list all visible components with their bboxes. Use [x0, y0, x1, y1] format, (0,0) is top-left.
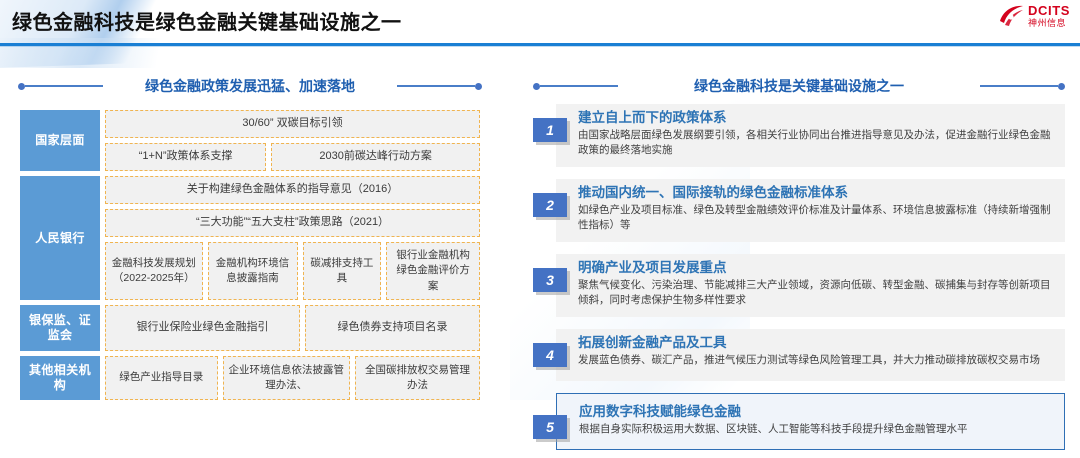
item-number-badge: 4 [533, 343, 567, 367]
policy-cell[interactable]: 银行业金融机构绿色金融评价方案 [386, 242, 480, 300]
item-panel: 拓展创新金融产品及工具 发展蓝色债券、碳汇产品，推进气候压力测试等绿色风险管理工… [556, 329, 1065, 381]
right-rail-start [533, 83, 618, 90]
list-item[interactable]: 3 明确产业及项目发展重点 聚焦气候变化、污染治理、节能减排三大产业领域，资源向… [533, 254, 1065, 317]
list-item[interactable]: 1 建立自上而下的政策体系 由国家战略层面绿色发展纲要引领，各相关行业协同出台推… [533, 104, 1065, 167]
item-body: 发展蓝色债券、碳汇产品，推进气候压力测试等绿色风险管理工具，并大力推动碳排放碳权… [578, 353, 1055, 369]
row-body: 30/60” 双碳目标引领 “1+N”政策体系支撑 2030前碳达峰行动方案 [105, 110, 480, 171]
item-number-badge: 3 [533, 268, 567, 292]
rail-dot-icon [1058, 83, 1065, 90]
policy-cell[interactable]: 30/60” 双碳目标引领 [105, 110, 480, 138]
policy-cell[interactable]: 企业环境信息依法披露管理办法、 [223, 356, 351, 400]
policy-cell[interactable]: “1+N”政策体系支撑 [105, 143, 266, 171]
rail-line-icon [980, 85, 1058, 87]
item-panel: 推动国内统一、国际接轨的绿色金融标准体系 如绿色产业及项目标准、绿色及转型金融绩… [556, 179, 1065, 242]
swoosh-logo-icon [998, 4, 1024, 28]
cell-group: 金融科技发展规划（2022-2025年） 金融机构环境信息披露指南 碳减排支持工… [105, 242, 480, 300]
list-item-highlighted[interactable]: 5 应用数字科技赋能绿色金融 根据自身实际积极运用大数据、区块链、人工智能等科技… [533, 393, 1065, 450]
policy-cell[interactable]: 关于构建绿色金融体系的指导意见（2016） [105, 176, 480, 204]
list-item[interactable]: 4 拓展创新金融产品及工具 发展蓝色债券、碳汇产品，推进气候压力测试等绿色风险管… [533, 329, 1065, 381]
brand-name: DCITS [1028, 4, 1070, 17]
row-label-cbirc-csrc: 银保监、证监会 [20, 305, 100, 351]
right-section-title: 绿色金融科技是关键基础设施之一 [618, 76, 980, 96]
brand-logo-text: DCITS 神州信息 [1028, 4, 1070, 28]
policy-cell[interactable]: 2030前碳达峰行动方案 [271, 143, 480, 171]
item-heading: 推动国内统一、国际接轨的绿色金融标准体系 [578, 184, 1055, 202]
cell-group: 30/60” 双碳目标引领 [105, 110, 480, 138]
rail-dot-icon [18, 83, 25, 90]
rail-dot-icon [475, 83, 482, 90]
row-label-other-agencies: 其他相关机构 [20, 356, 100, 400]
policy-cell[interactable]: “三大功能”“五大支柱”政策思路（2021） [105, 209, 480, 237]
policy-cell[interactable]: 绿色产业指导目录 [105, 356, 218, 400]
row-body: 银行业保险业绿色金融指引 绿色债券支持项目名录 [105, 305, 480, 351]
table-row: 国家层面 30/60” 双碳目标引领 “1+N”政策体系支撑 2030前碳达峰行… [20, 110, 480, 171]
rail-line-icon [540, 85, 618, 87]
table-row: 其他相关机构 绿色产业指导目录 企业环境信息依法披露管理办法、 全国碳排放权交易… [20, 356, 480, 400]
policy-cell[interactable]: 金融机构环境信息披露指南 [208, 242, 298, 300]
brand-logo: DCITS 神州信息 [998, 4, 1070, 28]
left-rail-start [18, 83, 103, 90]
item-body: 由国家战略层面绿色发展纲要引领，各相关行业协同出台推进指导意见及办法，促进金融行… [578, 128, 1055, 160]
cell-group: 银行业保险业绿色金融指引 绿色债券支持项目名录 [105, 305, 480, 351]
row-label-pboc: 人民银行 [20, 176, 100, 300]
rail-line-icon [397, 85, 475, 87]
policy-cell[interactable]: 金融科技发展规划（2022-2025年） [105, 242, 203, 300]
row-body: 绿色产业指导目录 企业环境信息依法披露管理办法、 全国碳排放权交易管理办法 [105, 356, 480, 400]
policy-cell[interactable]: 全国碳排放权交易管理办法 [355, 356, 480, 400]
item-number-badge: 2 [533, 193, 567, 217]
key-infrastructure-list: 1 建立自上而下的政策体系 由国家战略层面绿色发展纲要引领，各相关行业协同出台推… [533, 104, 1065, 450]
row-label-national: 国家层面 [20, 110, 100, 171]
policy-cell[interactable]: 绿色债券支持项目名录 [305, 305, 480, 351]
table-row: 银保监、证监会 银行业保险业绿色金融指引 绿色债券支持项目名录 [20, 305, 480, 351]
policy-matrix-table: 国家层面 30/60” 双碳目标引领 “1+N”政策体系支撑 2030前碳达峰行… [20, 110, 480, 400]
item-heading: 明确产业及项目发展重点 [578, 259, 1055, 277]
item-number-badge: 5 [533, 415, 567, 439]
rail-dot-icon [533, 83, 540, 90]
item-panel: 应用数字科技赋能绿色金融 根据自身实际积极运用大数据、区块链、人工智能等科技手段… [556, 393, 1065, 450]
policy-cell[interactable]: 碳减排支持工具 [303, 242, 382, 300]
item-heading: 应用数字科技赋能绿色金融 [579, 403, 1054, 421]
cell-group: “1+N”政策体系支撑 2030前碳达峰行动方案 [105, 143, 480, 171]
item-heading: 建立自上而下的政策体系 [578, 109, 1055, 127]
left-rail-end [397, 83, 482, 90]
item-panel: 建立自上而下的政策体系 由国家战略层面绿色发展纲要引领，各相关行业协同出台推进指… [556, 104, 1065, 167]
cell-group: 绿色产业指导目录 企业环境信息依法披露管理办法、 全国碳排放权交易管理办法 [105, 356, 480, 400]
policy-cell[interactable]: 银行业保险业绿色金融指引 [105, 305, 300, 351]
slide-canvas: 绿色金融科技是绿色金融关键基础设施之一 DCITS 神州信息 绿色金融政策发展迅… [0, 0, 1080, 458]
right-rail-end [980, 83, 1065, 90]
brand-name-cn: 神州信息 [1028, 19, 1070, 28]
item-body: 根据自身实际积极运用大数据、区块链、人工智能等科技手段提升绿色金融管理水平 [579, 422, 1054, 438]
title-divider-soft [0, 46, 1080, 47]
right-section-header: 绿色金融科技是关键基础设施之一 [533, 76, 1065, 96]
title-bar: 绿色金融科技是绿色金融关键基础设施之一 [0, 0, 1080, 47]
cell-group: “三大功能”“五大支柱”政策思路（2021） [105, 209, 480, 237]
item-heading: 拓展创新金融产品及工具 [578, 334, 1055, 352]
left-section-title: 绿色金融政策发展迅猛、加速落地 [103, 76, 397, 96]
list-item[interactable]: 2 推动国内统一、国际接轨的绿色金融标准体系 如绿色产业及项目标准、绿色及转型金… [533, 179, 1065, 242]
row-body: 关于构建绿色金融体系的指导意见（2016） “三大功能”“五大支柱”政策思路（2… [105, 176, 480, 300]
item-body: 如绿色产业及项目标准、绿色及转型金融绩效评价标准及计量体系、环境信息披露标准（持… [578, 203, 1055, 235]
item-body: 聚焦气候变化、污染治理、节能减排三大产业领域，资源向低碳、转型金融、碳捕集与封存… [578, 278, 1055, 310]
table-row: 人民银行 关于构建绿色金融体系的指导意见（2016） “三大功能”“五大支柱”政… [20, 176, 480, 300]
item-panel: 明确产业及项目发展重点 聚焦气候变化、污染治理、节能减排三大产业领域，资源向低碳… [556, 254, 1065, 317]
cell-group: 关于构建绿色金融体系的指导意见（2016） [105, 176, 480, 204]
item-number-badge: 1 [533, 118, 567, 142]
rail-line-icon [25, 85, 103, 87]
page-title: 绿色金融科技是绿色金融关键基础设施之一 [12, 6, 402, 35]
left-section-header: 绿色金融政策发展迅猛、加速落地 [18, 76, 482, 96]
